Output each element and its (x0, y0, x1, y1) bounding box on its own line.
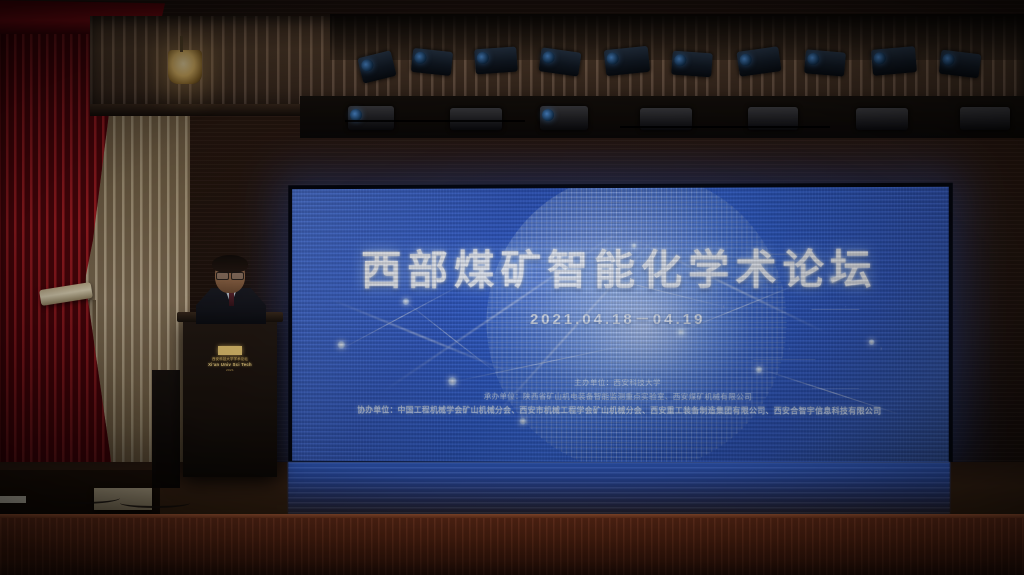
image-vignette (0, 0, 1024, 575)
stage-photograph: 西部煤矿智能化学术论坛 2021.04.18－04.19 主办单位：西安科技大学… (0, 0, 1024, 575)
